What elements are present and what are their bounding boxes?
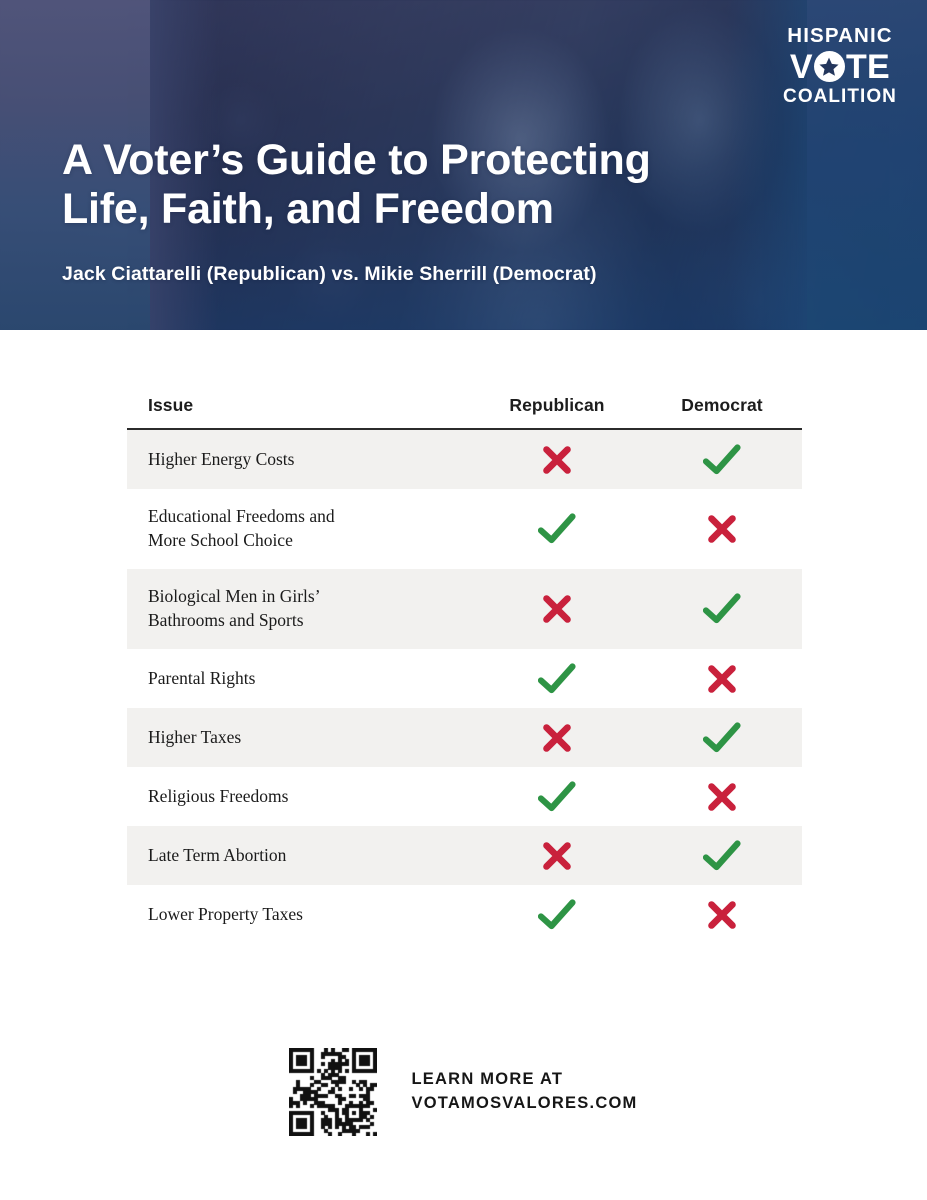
democrat-position — [642, 840, 802, 872]
republican-position — [472, 663, 642, 695]
table-row: Lower Property Taxes — [127, 885, 802, 944]
cross-icon — [706, 663, 738, 695]
table-row: Higher Taxes — [127, 708, 802, 767]
learn-more-text: LEARN MORE AT VOTAMOSVALORES.COM — [411, 1068, 637, 1116]
check-icon — [703, 593, 741, 625]
issue-label: Parental Rights — [127, 667, 472, 691]
issue-label: Higher Energy Costs — [127, 448, 472, 472]
issue-label: Religious Freedoms — [127, 785, 472, 809]
issue-label: Late Term Abortion — [127, 844, 472, 868]
table-row: Biological Men in Girls’Bathrooms and Sp… — [127, 569, 802, 649]
democrat-position — [642, 444, 802, 476]
page-title: A Voter’s Guide to Protecting Life, Fait… — [62, 136, 651, 235]
voter-guide-page: HISPANIC V TE COALITION A Voter’s Guide … — [0, 0, 927, 1200]
cross-icon — [541, 444, 573, 476]
issue-label-line-2: Bathrooms and Sports — [148, 609, 472, 633]
issue-label: Biological Men in Girls’Bathrooms and Sp… — [127, 585, 472, 632]
democrat-position — [642, 663, 802, 695]
column-header-democrat: Democrat — [642, 395, 802, 416]
table-row: Educational Freedoms andMore School Choi… — [127, 489, 802, 569]
table-body: Higher Energy CostsEducational Freedoms … — [127, 430, 802, 944]
issue-label-line-1: Biological Men in Girls’ — [148, 585, 472, 609]
check-icon — [538, 781, 576, 813]
republican-position — [472, 781, 642, 813]
check-icon — [538, 513, 576, 545]
logo-line-hispanic: HISPANIC — [779, 26, 901, 47]
cross-icon — [541, 593, 573, 625]
star-icon — [818, 56, 840, 78]
check-icon — [703, 840, 741, 872]
republican-position — [472, 513, 642, 545]
cross-icon — [541, 722, 573, 754]
issue-label-line-2: More School Choice — [148, 529, 472, 553]
issue-label: Lower Property Taxes — [127, 903, 472, 927]
democrat-position — [642, 781, 802, 813]
issue-label: Educational Freedoms andMore School Choi… — [127, 505, 472, 552]
republican-position — [472, 444, 642, 476]
cross-icon — [706, 513, 738, 545]
cross-icon — [541, 840, 573, 872]
check-icon — [538, 899, 576, 931]
table-row: Religious Freedoms — [127, 767, 802, 826]
democrat-position — [642, 899, 802, 931]
issue-comparison-table: Issue Republican Democrat Higher Energy … — [127, 395, 802, 944]
logo-line-coalition: COALITION — [779, 87, 901, 106]
column-header-republican: Republican — [472, 395, 642, 416]
table-row: Parental Rights — [127, 649, 802, 708]
learn-more-line-2: VOTAMOSVALORES.COM — [411, 1092, 637, 1116]
table-row: Higher Energy Costs — [127, 430, 802, 489]
logo-vote-o-circle — [814, 51, 845, 82]
cross-icon — [706, 781, 738, 813]
republican-position — [472, 899, 642, 931]
check-icon — [538, 663, 576, 695]
table-header-row: Issue Republican Democrat — [127, 395, 802, 430]
check-icon — [703, 722, 741, 754]
header-banner: HISPANIC V TE COALITION A Voter’s Guide … — [0, 0, 927, 330]
qr-code-icon[interactable] — [289, 1048, 377, 1136]
footer: LEARN MORE AT VOTAMOSVALORES.COM — [0, 1048, 927, 1136]
democrat-position — [642, 722, 802, 754]
table-row: Late Term Abortion — [127, 826, 802, 885]
learn-more-line-1: LEARN MORE AT — [411, 1068, 637, 1092]
issue-label: Higher Taxes — [127, 726, 472, 750]
page-title-line-1: A Voter’s Guide to Protecting — [62, 136, 651, 185]
page-title-line-2: Life, Faith, and Freedom — [62, 185, 651, 234]
logo-vote-te: TE — [846, 50, 890, 84]
logo-vote-v: V — [790, 50, 813, 84]
banner-text-block: A Voter’s Guide to Protecting Life, Fait… — [62, 136, 651, 286]
democrat-position — [642, 513, 802, 545]
hispanic-vote-coalition-logo: HISPANIC V TE COALITION — [779, 26, 901, 106]
logo-line-vote: V TE — [779, 50, 901, 84]
republican-position — [472, 722, 642, 754]
republican-position — [472, 840, 642, 872]
check-icon — [703, 444, 741, 476]
issue-label-line-1: Educational Freedoms and — [148, 505, 472, 529]
page-subtitle: Jack Ciattarelli (Republican) vs. Mikie … — [62, 263, 651, 286]
column-header-issue: Issue — [127, 395, 472, 416]
democrat-position — [642, 593, 802, 625]
republican-position — [472, 593, 642, 625]
cross-icon — [706, 899, 738, 931]
